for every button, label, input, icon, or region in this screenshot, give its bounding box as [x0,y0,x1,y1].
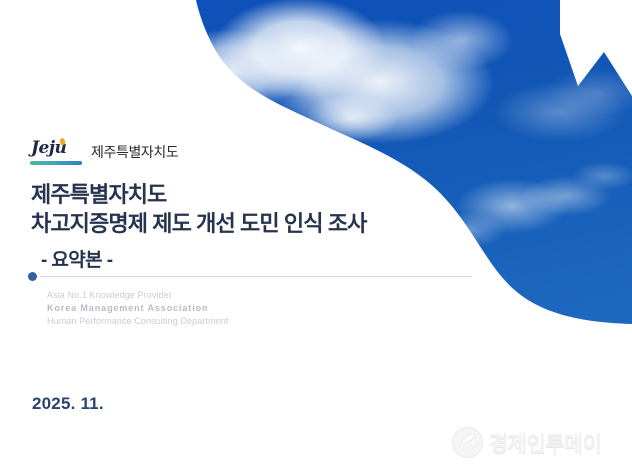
slide-content: Jeju 제주특별자치도 제주특별자치도 차고지증명제 제도 개선 도민 인식 … [0,0,632,475]
watermark: 경제인투데이 [452,427,601,458]
title-line-2: 차고지증명제 제도 개선 도민 인식 조사 [31,211,367,236]
jeju-ci-logo: Jeju 제주특별자치도 [30,139,178,165]
jeju-wordmark-icon: Jeju [30,139,82,165]
org-name: Korea Management Association [47,302,228,315]
jeju-underline-icon [30,161,82,165]
province-name-label: 제주특별자치도 [91,142,178,165]
watermark-text: 경제인투데이 [489,428,601,458]
title-line-3: - 요약본 - [31,246,367,275]
org-department: Human Performance Consulting Department [47,315,228,328]
publication-date: 2025. 11. [32,394,104,414]
title-slide: Jeju 제주특별자치도 제주특별자치도 차고지증명제 제도 개선 도민 인식 … [0,0,632,475]
divider-dot-icon [28,272,37,281]
page-title: 제주특별자치도 차고지증명제 제도 개선 도민 인식 조사 - 요약본 - [31,180,367,275]
org-tagline: Asia No.1 Knowledge Provider [47,289,228,302]
jeju-wordmark-text: Jeju [30,139,82,158]
organization-block: Asia No.1 Knowledge Provider Korea Manag… [47,289,228,328]
title-line-1: 제주특별자치도 [31,182,166,207]
divider-line [40,276,472,277]
circle-arrow-logo-icon [452,427,483,458]
